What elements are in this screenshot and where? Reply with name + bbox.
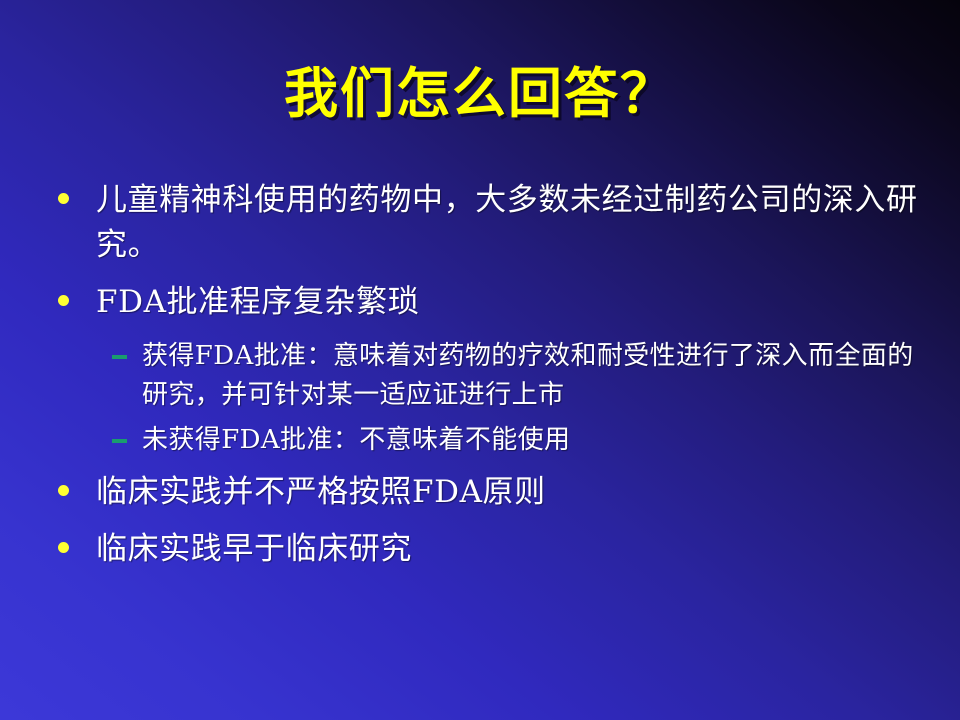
bullet-dot-icon <box>44 280 96 325</box>
bullet-dot-icon <box>44 527 96 572</box>
sub-bullet-item-2: 未获得FDA批准：不意味着不能使用 <box>112 421 934 460</box>
bullet-text: 临床实践并不严格按照FDA原则 <box>96 470 934 515</box>
sub-bullet-item-1: 获得FDA批准：意味着对药物的疗效和耐受性进行了深入而全面的研究，并可针对某一适… <box>112 337 934 415</box>
slide-title-area: 我们怎么回答？ <box>0 62 960 124</box>
bullet-item-1: 儿童精神科使用的药物中，大多数未经过制药公司的深入研究。 <box>44 178 934 268</box>
bullet-text: 儿童精神科使用的药物中，大多数未经过制药公司的深入研究。 <box>96 178 934 268</box>
bullet-text: 临床实践早于临床研究 <box>96 527 934 572</box>
slide-body-list: 儿童精神科使用的药物中，大多数未经过制药公司的深入研究。 FDA批准程序复杂繁琐… <box>44 178 934 584</box>
sub-bullet-text: 获得FDA批准：意味着对药物的疗效和耐受性进行了深入而全面的研究，并可针对某一适… <box>142 337 934 415</box>
presentation-slide: 我们怎么回答？ 儿童精神科使用的药物中，大多数未经过制药公司的深入研究。 FDA… <box>0 0 960 720</box>
bullet-item-3: 临床实践并不严格按照FDA原则 <box>44 470 934 515</box>
bullet-dot-icon <box>44 178 96 223</box>
bullet-text: FDA批准程序复杂繁琐 <box>96 280 934 325</box>
bullet-dash-icon <box>112 337 142 359</box>
sub-bullet-group: 获得FDA批准：意味着对药物的疗效和耐受性进行了深入而全面的研究，并可针对某一适… <box>44 337 934 460</box>
bullet-item-2: FDA批准程序复杂繁琐 <box>44 280 934 325</box>
sub-bullet-text: 未获得FDA批准：不意味着不能使用 <box>142 421 934 460</box>
bullet-dot-icon <box>44 470 96 515</box>
page-title: 我们怎么回答？ <box>284 62 676 124</box>
bullet-dash-icon <box>112 421 142 443</box>
bullet-item-4: 临床实践早于临床研究 <box>44 527 934 572</box>
